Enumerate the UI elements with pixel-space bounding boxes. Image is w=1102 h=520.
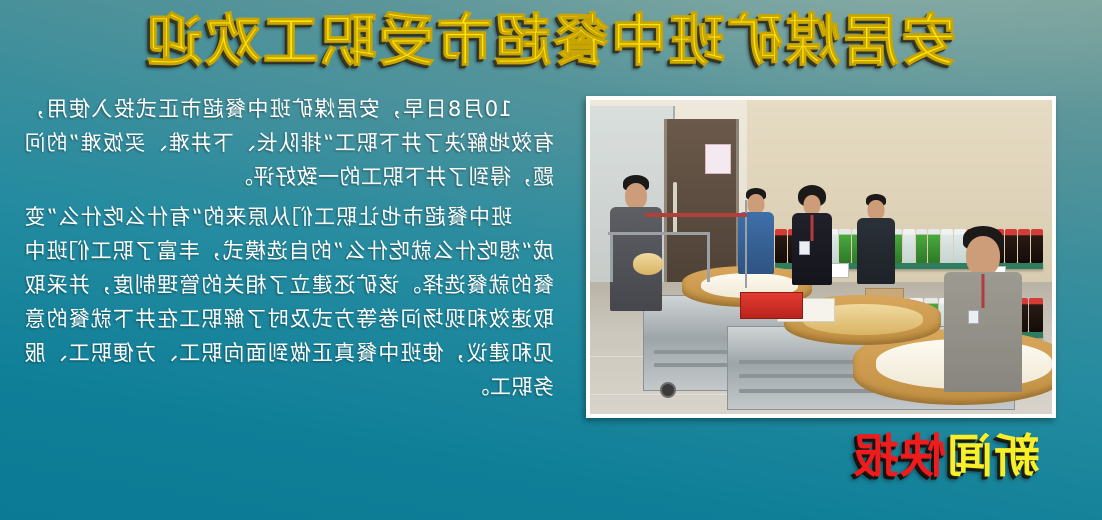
photo-person-staff-c — [729, 188, 784, 295]
news-photo-frame — [586, 96, 1056, 418]
photo-person-foreground — [932, 226, 1034, 377]
article-paragraph-2: 班中餐超市也让职工们从原来的“有什么吃什么”变成“想吃什么就吃什么”的自选模式，… — [24, 200, 554, 404]
poster-title: 安居煤矿班中餐超市受职工欢迎 — [0, 8, 1102, 76]
photo-handrail — [609, 232, 711, 235]
photo-door-handle — [673, 182, 677, 234]
photo-person-staff-a — [849, 194, 904, 301]
photo-queue-rope — [645, 213, 747, 217]
photo-wall-notice — [706, 144, 732, 174]
poster-title-text: 安居煤矿班中餐超市受职工欢迎 — [145, 8, 957, 76]
news-photo — [590, 100, 1052, 414]
banner-text-red: 快报 — [852, 429, 946, 483]
article-body: 10月8日早，安居煤矿班中餐超市正式投入使用，有效地解决了井下职工“排队长、下井… — [24, 92, 554, 410]
photo-person-staff-b — [779, 185, 844, 304]
article-paragraph-1: 10月8日早，安居煤矿班中餐超市正式投入使用，有效地解决了井下职工“排队长、下井… — [24, 92, 554, 194]
photo-handrail-post — [707, 232, 710, 282]
photo-handrail-post — [610, 232, 613, 282]
banner-text-yellow: 新闻 — [946, 429, 1040, 483]
news-flash-banner: 新闻快报 — [852, 428, 1040, 484]
poster-canvas: 安居煤矿班中餐超市受职工欢迎 — [0, 0, 1102, 520]
